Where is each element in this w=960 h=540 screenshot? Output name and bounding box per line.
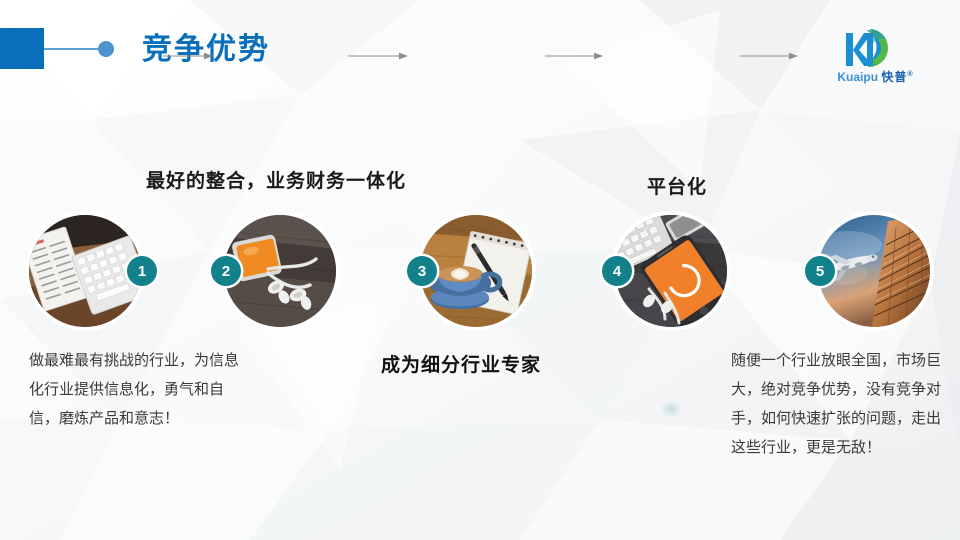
notebook-and-keyboard-on-desk-image bbox=[29, 215, 141, 327]
header-bullet-dot bbox=[98, 41, 114, 57]
caption-left: 做最难最有挑战的行业，为信息化行业提供信息化，勇气和自信，磨炼产品和意志！ bbox=[29, 346, 239, 433]
step-badge: 1 bbox=[127, 256, 157, 286]
kuaipu-logo-icon bbox=[834, 26, 914, 68]
header-accent-square bbox=[0, 28, 44, 69]
slide-canvas: 竞争优势 Kuaipu 快普® 最好的整合，业务财务一体化 平台化 bbox=[0, 0, 960, 540]
step-badge: 4 bbox=[602, 256, 632, 286]
step-arrow-2-3 bbox=[348, 48, 408, 64]
step-badge: 5 bbox=[805, 256, 835, 286]
step-arrow-4-5 bbox=[740, 48, 798, 64]
logo-name-cn: 快普 bbox=[881, 70, 907, 84]
header-connector-line bbox=[44, 48, 100, 50]
logo-registered-mark: ® bbox=[907, 71, 912, 78]
logo-wordmark: Kuaipu 快普® bbox=[812, 68, 938, 85]
caption-center: 成为细分行业专家 bbox=[381, 350, 541, 377]
background-artifact bbox=[660, 400, 682, 418]
step-image-circle bbox=[29, 215, 141, 327]
heading-above-left: 最好的整合，业务财务一体化 bbox=[146, 166, 406, 193]
heading-above-right: 平台化 bbox=[647, 172, 707, 199]
step-arrow-1-2 bbox=[163, 48, 213, 64]
brand-logo: Kuaipu 快普® bbox=[812, 26, 938, 84]
step-badge: 2 bbox=[211, 256, 241, 286]
caption-right: 随便一个行业放眼全国，市场巨大，绝对竞争优势，没有竞争对手，如何快速扩张的问题，… bbox=[731, 346, 943, 462]
logo-name-en: Kuaipu bbox=[837, 70, 878, 84]
step-arrow-3-4 bbox=[545, 48, 603, 64]
step-badge: 3 bbox=[407, 256, 437, 286]
